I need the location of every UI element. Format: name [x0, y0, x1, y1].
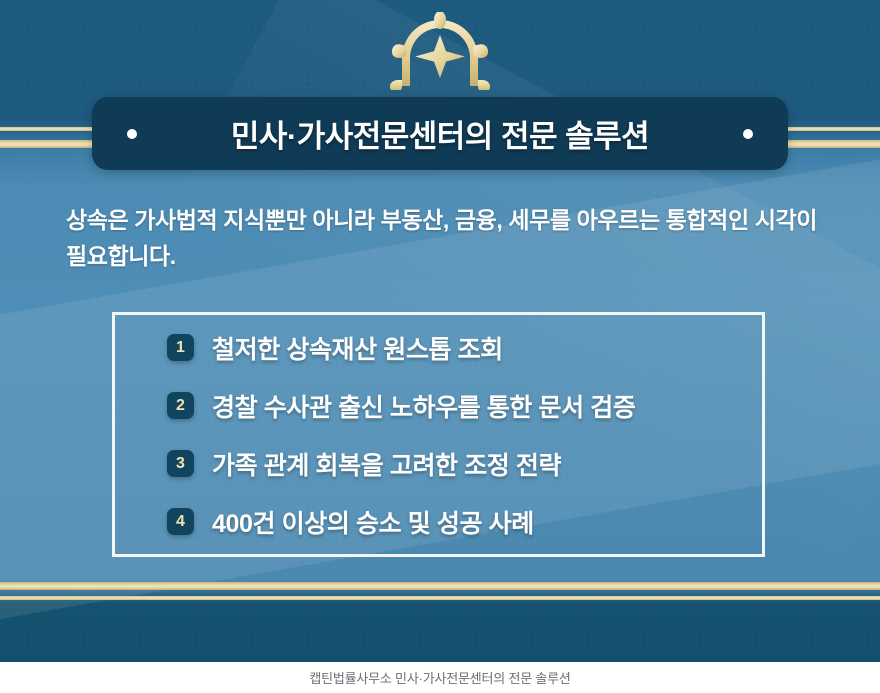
- item-label: 400건 이상의 승소 및 성공 사례: [212, 504, 534, 540]
- item-number-badge: 3: [167, 450, 194, 477]
- list-item: 3 가족 관계 회복을 고려한 조정 전략: [167, 443, 762, 485]
- title-pill: 민사·가사전문센터의 전문 솔루션: [92, 97, 788, 170]
- decorative-dot-left-icon: [127, 129, 137, 139]
- lead-paragraph: 상속은 가사법적 지식뿐만 아니라 부동산, 금융, 세무를 아우르는 통합적인…: [66, 203, 826, 274]
- caption-bar: 캡틴법률사무소 민사·가사전문센터의 전문 솔루션: [0, 662, 880, 693]
- item-label: 철저한 상속재산 원스톱 조회: [212, 330, 503, 366]
- item-number-badge: 2: [167, 392, 194, 419]
- item-label: 가족 관계 회복을 고려한 조정 전략: [212, 446, 561, 482]
- item-number-badge: 1: [167, 334, 194, 361]
- arch-star-emblem-icon: [380, 12, 500, 90]
- feature-list-box: 1 철저한 상속재산 원스톱 조회 2 경찰 수사관 출신 노하우를 통한 문서…: [112, 312, 765, 557]
- page-title: 민사·가사전문센터의 전문 솔루션: [137, 111, 743, 156]
- list-item: 1 철저한 상속재산 원스톱 조회: [167, 327, 762, 369]
- slide-canvas: 민사·가사전문센터의 전문 솔루션 상속은 가사법적 지식뿐만 아니라 부동산,…: [0, 0, 880, 662]
- caption-text: 캡틴법률사무소 민사·가사전문센터의 전문 솔루션: [309, 668, 570, 687]
- list-item: 2 경찰 수사관 출신 노하우를 통한 문서 검증: [167, 385, 762, 427]
- item-label: 경찰 수사관 출신 노하우를 통한 문서 검증: [212, 388, 635, 424]
- item-number-badge: 4: [167, 508, 194, 535]
- decorative-dot-right-icon: [743, 129, 753, 139]
- list-item: 4 400건 이상의 승소 및 성공 사례: [167, 501, 762, 543]
